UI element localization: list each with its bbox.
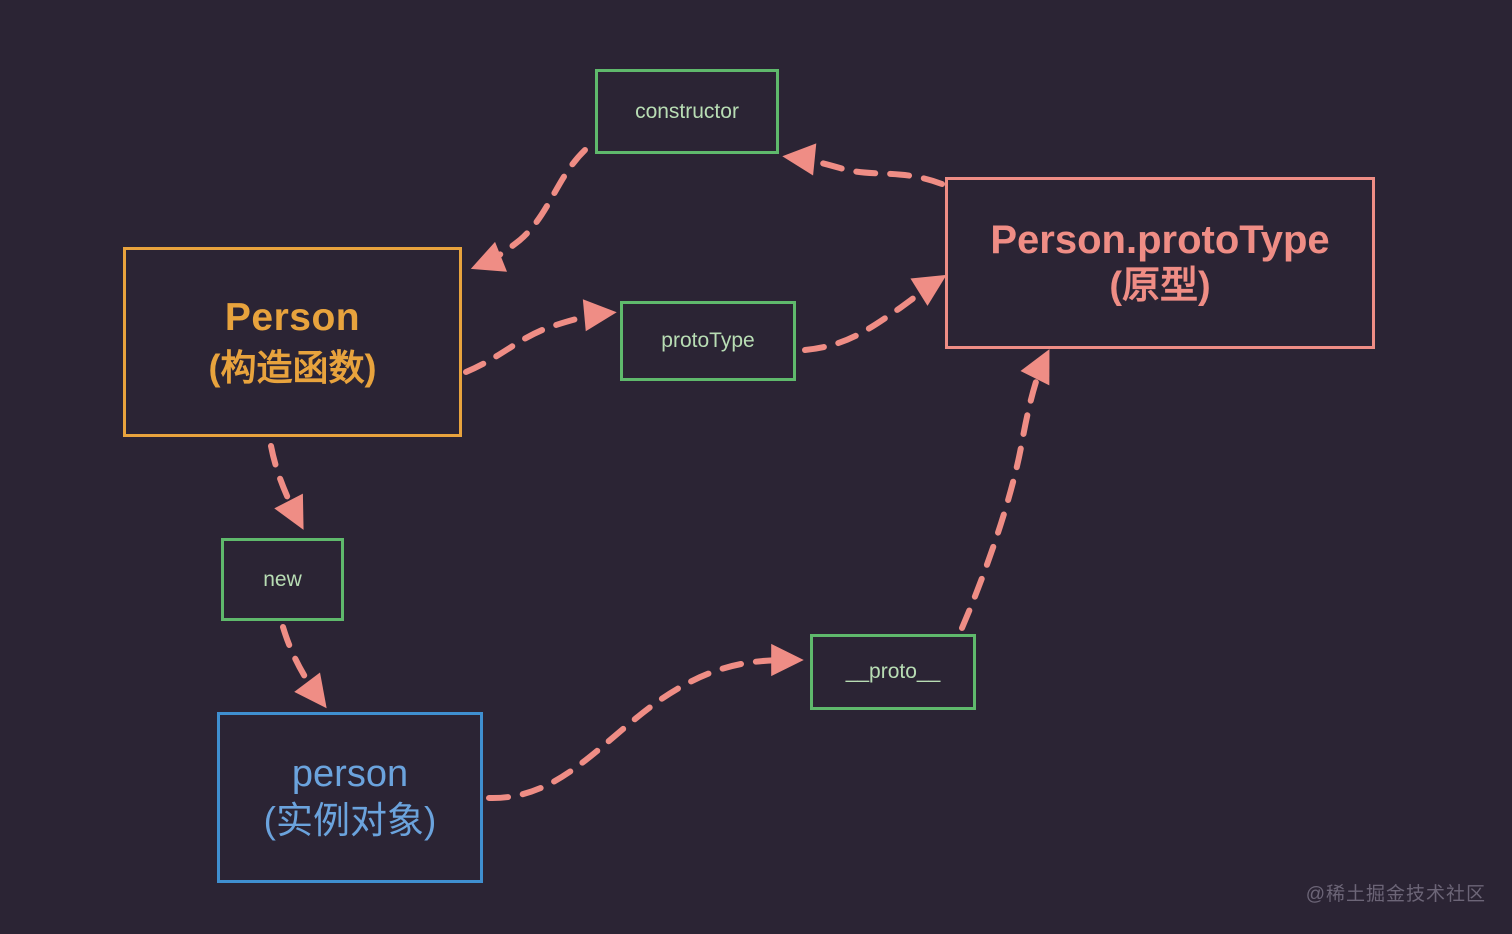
edge-dunder-proto-to-person-prototype	[962, 356, 1046, 628]
node-person-instance-subtitle: (实例对象)	[264, 800, 437, 842]
edge-person-to-new	[271, 446, 300, 523]
edge-instance-to-dunder-proto	[489, 660, 796, 798]
node-new-operator[interactable]: new	[221, 538, 344, 621]
edge-new-to-instance	[283, 627, 322, 702]
watermark: @稀土掘金技术社区	[1306, 879, 1486, 906]
node-constructor-label: constructor	[635, 100, 739, 124]
diagram-canvas: Person (构造函数) Person.protoType (原型) pers…	[0, 0, 1512, 934]
node-person-prototype[interactable]: Person.protoType (原型)	[945, 177, 1375, 349]
node-person-instance-title: person	[292, 753, 408, 796]
node-person-prototype-title: Person.protoType	[990, 218, 1329, 264]
node-new-label: new	[263, 568, 302, 592]
edge-prototype-to-person-prototype	[805, 279, 940, 350]
node-person-subtitle: (构造函数)	[209, 347, 377, 388]
node-person-prototype-subtitle: (原型)	[1109, 265, 1210, 308]
edge-prototype-to-constructor	[790, 157, 942, 184]
edge-constructor-to-person	[478, 150, 585, 266]
node-person-constructor[interactable]: Person (构造函数)	[123, 247, 462, 437]
node-constructor-property[interactable]: constructor	[595, 69, 779, 154]
node-prototype-property[interactable]: protoType	[620, 301, 796, 381]
edge-person-to-prototype	[466, 313, 609, 372]
node-person-instance[interactable]: person (实例对象)	[217, 712, 483, 883]
node-dunder-proto-property[interactable]: __proto__	[810, 634, 976, 710]
node-prototype-label: protoType	[661, 329, 754, 353]
node-person-title: Person	[225, 296, 360, 340]
node-dunder-proto-label: __proto__	[846, 660, 941, 684]
